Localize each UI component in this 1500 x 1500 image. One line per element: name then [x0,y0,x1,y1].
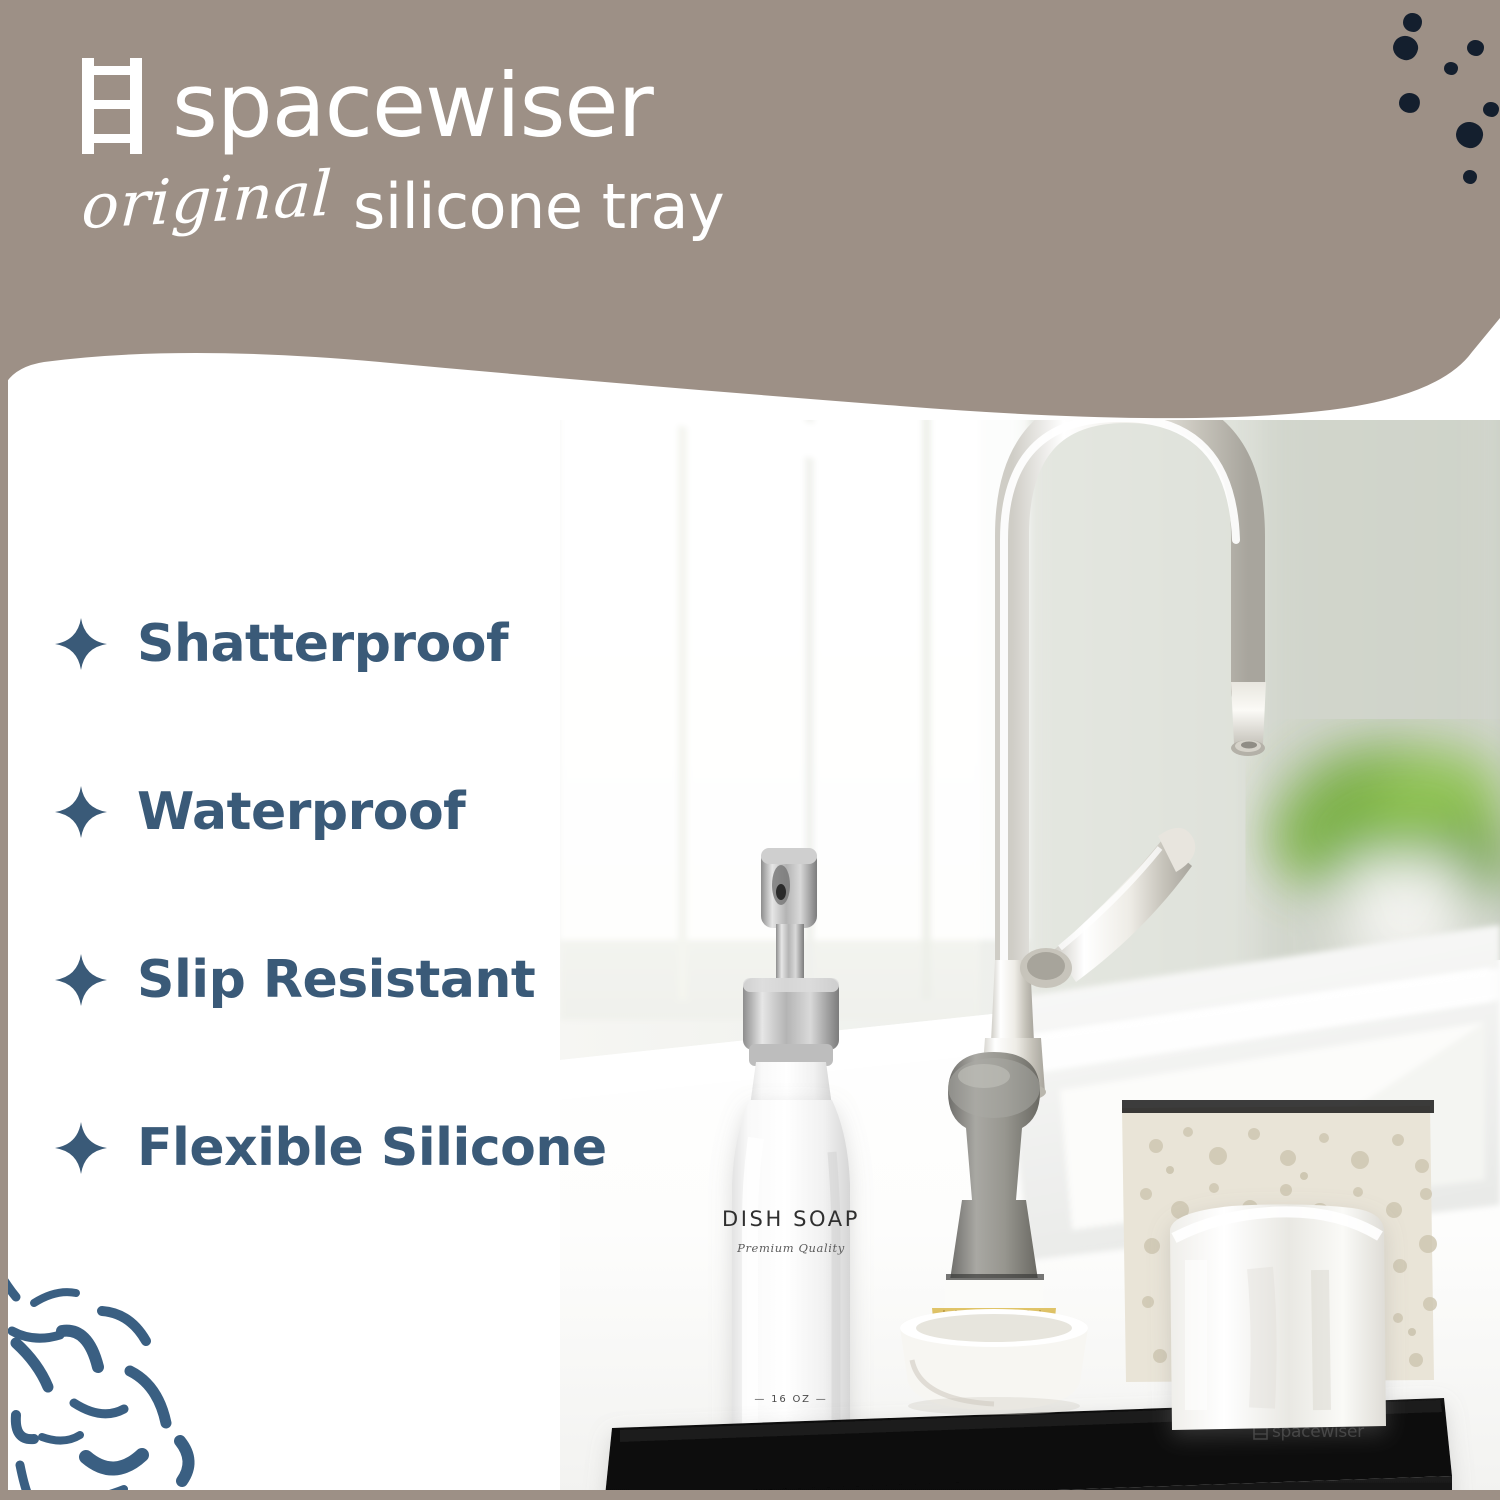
decorative-arcs [0,1245,240,1500]
dot-1 [1403,13,1422,32]
product-photo: DISH SOAP Premium Quality — 16 OZ — [560,300,1500,1500]
feature-label: Slip Resistant [137,950,535,1010]
dot-5 [1398,92,1422,115]
feature-item-waterproof: Waterproof [55,728,695,896]
bottle-subtitle: Premium Quality [736,1241,845,1255]
feature-item-slip-resistant: Slip Resistant [55,896,695,1064]
bottle-title: DISH SOAP [722,1207,860,1231]
feature-label: Flexible Silicone [137,1118,607,1178]
dot-2 [1391,34,1420,63]
tagline-plain: silicone tray [353,170,724,243]
dot-7 [1455,121,1485,150]
brand-logo-block: spacewiser original silicone tray [78,58,724,243]
feature-list: Shatterproof Waterproof Slip Resistant F… [55,560,695,1232]
sparkle-star-icon [55,1122,107,1174]
dot-3 [1467,40,1484,56]
ladder-shelf-icon [78,58,146,154]
sparkle-star-icon [55,786,107,838]
tagline-script: original [80,157,335,243]
sparkle-star-icon [55,954,107,1006]
dot-8 [1463,170,1477,184]
sparkle-star-icon [55,618,107,670]
dot-6 [1483,102,1499,117]
frame-left-strip [0,0,8,1500]
product-infographic: DISH SOAP Premium Quality — 16 OZ — [0,0,1500,1500]
frame-bottom-strip [0,1490,1500,1500]
dot-4 [1444,62,1458,75]
bottle-volume: — 16 OZ — [754,1394,827,1405]
feature-item-flexible-silicone: Flexible Silicone [55,1064,695,1232]
feature-item-shatterproof: Shatterproof [55,560,695,728]
brand-name: spacewiser [172,64,653,148]
feature-label: Waterproof [137,782,465,842]
feature-label: Shatterproof [137,614,508,674]
